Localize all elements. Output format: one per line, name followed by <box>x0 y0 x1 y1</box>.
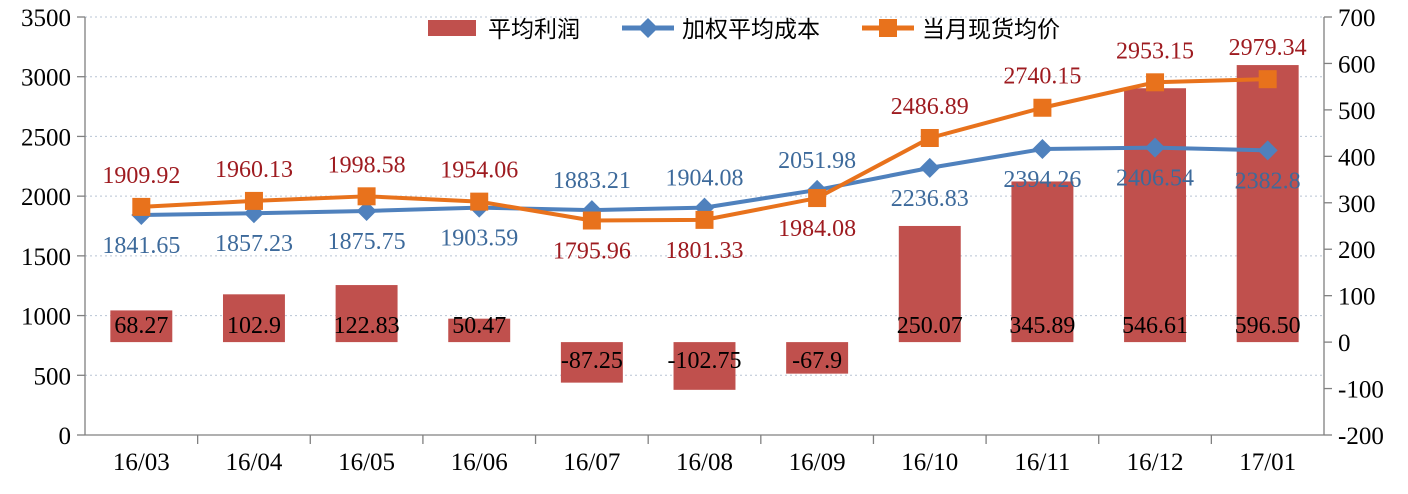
y-axis-right-tick-label: 400 <box>1338 144 1376 171</box>
y-axis-left-tick-label: 1000 <box>21 304 71 331</box>
bar-16-12[interactable] <box>1124 88 1186 342</box>
data-label-profit-16-09: -67.9 <box>792 348 842 374</box>
y-axis-left-tick-label: 500 <box>34 363 72 390</box>
diamond-marker-icon[interactable] <box>1032 139 1052 159</box>
data-label-spot-17-01: 2979.34 <box>1229 35 1307 61</box>
data-label-cost-16-11: 2394.26 <box>1003 167 1081 193</box>
data-label-spot-16-06: 1954.06 <box>440 158 518 184</box>
y-axis-left-tick-label: 2000 <box>21 184 71 211</box>
square-marker-icon[interactable] <box>696 211 714 229</box>
chart-canvas: 1909.921960.131998.581954.061795.961801.… <box>0 0 1408 494</box>
x-axis-category-label: 16/06 <box>451 449 508 476</box>
data-label-profit-16-06: 50.47 <box>452 313 506 339</box>
data-label-profit-16-11: 345.89 <box>1009 313 1075 339</box>
legend-item-label: 加权平均成本 <box>682 16 820 42</box>
data-label-cost-16-07: 1883.21 <box>553 168 631 194</box>
square-marker-icon[interactable] <box>358 187 376 205</box>
y-axis-right-tick-label: 200 <box>1338 237 1376 264</box>
square-marker-icon[interactable] <box>583 212 601 230</box>
data-label-profit-16-04: 102.9 <box>227 313 281 339</box>
data-label-profit-16-12: 546.61 <box>1122 313 1188 339</box>
data-label-profit-16-07: -87.25 <box>561 348 623 374</box>
y-axis-right-tick-label: -200 <box>1338 423 1384 450</box>
legend-item-label: 当月现货均价 <box>922 16 1060 42</box>
x-axis-category-label: 16/08 <box>676 449 733 476</box>
data-label-profit-16-05: 122.83 <box>334 313 400 339</box>
chart-legend: 平均利润加权平均成本当月现货均价 <box>428 16 1060 42</box>
data-label-spot-16-12: 2953.15 <box>1116 38 1194 64</box>
bar-17-01[interactable] <box>1237 65 1299 342</box>
data-label-cost-17-01: 2382.8 <box>1235 168 1301 194</box>
y-axis-right-tick-label: 700 <box>1338 5 1376 32</box>
legend-item-0[interactable]: 平均利润 <box>428 16 580 42</box>
square-marker-icon[interactable] <box>1259 70 1277 88</box>
y-axis-right-tick-label: 0 <box>1338 330 1351 357</box>
legend-item-1[interactable]: 加权平均成本 <box>622 16 820 42</box>
data-label-spot-16-10: 2486.89 <box>891 94 969 120</box>
data-label-cost-16-06: 1903.59 <box>440 226 518 252</box>
data-label-profit-17-01: 596.50 <box>1235 313 1301 339</box>
data-label-profit-16-08: -102.75 <box>668 348 742 374</box>
square-marker-icon <box>879 19 897 37</box>
x-axis-category-label: 16/11 <box>1014 449 1070 476</box>
data-label-cost-16-04: 1857.23 <box>215 231 293 257</box>
x-axis-category-label: 16/12 <box>1127 449 1184 476</box>
y-axis-left-tick-label: 1500 <box>21 244 71 271</box>
data-label-cost-16-03: 1841.65 <box>102 233 180 259</box>
x-axis-category-label: 16/09 <box>789 449 846 476</box>
y-axis-left-tick-label: 0 <box>59 423 72 450</box>
bar-swatch-icon <box>428 20 476 36</box>
square-marker-icon[interactable] <box>132 198 150 216</box>
square-marker-icon[interactable] <box>921 129 939 147</box>
data-label-spot-16-04: 1960.13 <box>215 157 293 183</box>
chart-container: 1909.921960.131998.581954.061795.961801.… <box>0 0 1408 494</box>
x-axis-category-label: 16/03 <box>113 449 170 476</box>
data-label-cost-16-08: 1904.08 <box>666 166 744 192</box>
y-axis-left-tick-label: 2500 <box>21 124 71 151</box>
y-axis-left-tick-label: 3000 <box>21 65 71 92</box>
diamond-marker-icon[interactable] <box>920 158 940 178</box>
y-axis-right-tick-label: 300 <box>1338 191 1376 218</box>
y-axis-right-tick-label: 600 <box>1338 51 1376 78</box>
data-label-spot-16-08: 1801.33 <box>666 238 744 264</box>
x-axis-category-label: 17/01 <box>1239 449 1296 476</box>
square-marker-icon[interactable] <box>1033 99 1051 117</box>
data-label-cost-16-10: 2236.83 <box>891 186 969 212</box>
square-marker-icon[interactable] <box>808 189 826 207</box>
data-label-spot-16-07: 1795.96 <box>553 239 631 265</box>
square-marker-icon[interactable] <box>245 192 263 210</box>
data-label-profit-16-10: 250.07 <box>897 313 963 339</box>
data-label-spot-16-11: 2740.15 <box>1003 64 1081 90</box>
legend-item-label: 平均利润 <box>488 16 580 42</box>
data-label-cost-16-09: 2051.98 <box>778 148 856 174</box>
square-marker-icon[interactable] <box>470 193 488 211</box>
y-axis-right-tick-label: -100 <box>1338 377 1384 404</box>
data-label-spot-16-03: 1909.92 <box>102 163 180 189</box>
data-label-profit-16-03: 68.27 <box>114 313 168 339</box>
square-marker-icon[interactable] <box>1146 73 1164 91</box>
y-axis-right-tick-label: 100 <box>1338 284 1376 311</box>
x-axis-category-label: 16/07 <box>563 449 620 476</box>
x-axis-category-label: 16/05 <box>338 449 395 476</box>
data-label-spot-16-09: 1984.08 <box>778 216 856 242</box>
x-axis-category-label: 16/04 <box>225 449 282 476</box>
legend-item-2[interactable]: 当月现货均价 <box>862 16 1060 42</box>
y-axis-left-tick-label: 3500 <box>21 5 71 32</box>
data-label-spot-16-05: 1998.58 <box>328 152 406 178</box>
y-axis-right-tick-label: 500 <box>1338 98 1376 125</box>
diamond-marker-icon <box>638 18 658 38</box>
data-label-cost-16-05: 1875.75 <box>328 229 406 255</box>
x-axis-category-label: 16/10 <box>901 449 958 476</box>
data-label-cost-16-12: 2406.54 <box>1116 166 1194 192</box>
